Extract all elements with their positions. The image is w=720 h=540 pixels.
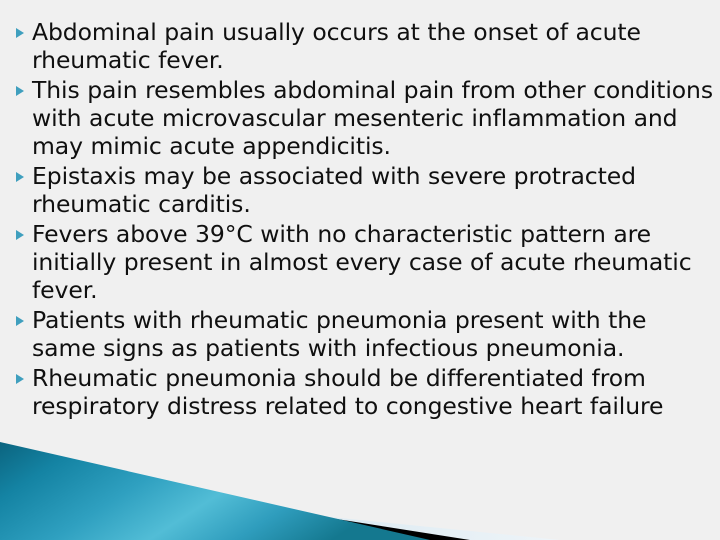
bullet-list: Abdominal pain usually occurs at the ons… bbox=[0, 0, 720, 422]
bullet-text: Fevers above 39°C with no characteristic… bbox=[32, 220, 714, 304]
bullet-text: This pain resembles abdominal pain from … bbox=[32, 76, 714, 160]
slide-canvas: Abdominal pain usually occurs at the ons… bbox=[0, 0, 720, 540]
list-item: Patients with rheumatic pneumonia presen… bbox=[14, 306, 714, 362]
bullet-text: Abdominal pain usually occurs at the ons… bbox=[32, 18, 714, 74]
triangle-right-icon bbox=[14, 85, 30, 97]
ribbon-black-stripe bbox=[0, 466, 470, 540]
diagonal-ribbon-decoration bbox=[0, 440, 720, 540]
triangle-right-icon bbox=[14, 171, 30, 183]
triangle-right-icon bbox=[14, 229, 30, 241]
bullet-text: Patients with rheumatic pneumonia presen… bbox=[32, 306, 714, 362]
list-item: This pain resembles abdominal pain from … bbox=[14, 76, 714, 160]
triangle-right-icon bbox=[14, 315, 30, 327]
ribbon-teal-band bbox=[0, 442, 430, 540]
list-item: Epistaxis may be associated with severe … bbox=[14, 162, 714, 218]
triangle-right-icon bbox=[14, 373, 30, 385]
list-item: Fevers above 39°C with no characteristic… bbox=[14, 220, 714, 304]
list-item: Rheumatic pneumonia should be differenti… bbox=[14, 364, 714, 420]
bullet-text: Epistaxis may be associated with severe … bbox=[32, 162, 714, 218]
bullet-text: Rheumatic pneumonia should be differenti… bbox=[32, 364, 714, 420]
ribbon-pale-wedge bbox=[0, 484, 560, 540]
triangle-right-icon bbox=[14, 27, 30, 39]
list-item: Abdominal pain usually occurs at the ons… bbox=[14, 18, 714, 74]
